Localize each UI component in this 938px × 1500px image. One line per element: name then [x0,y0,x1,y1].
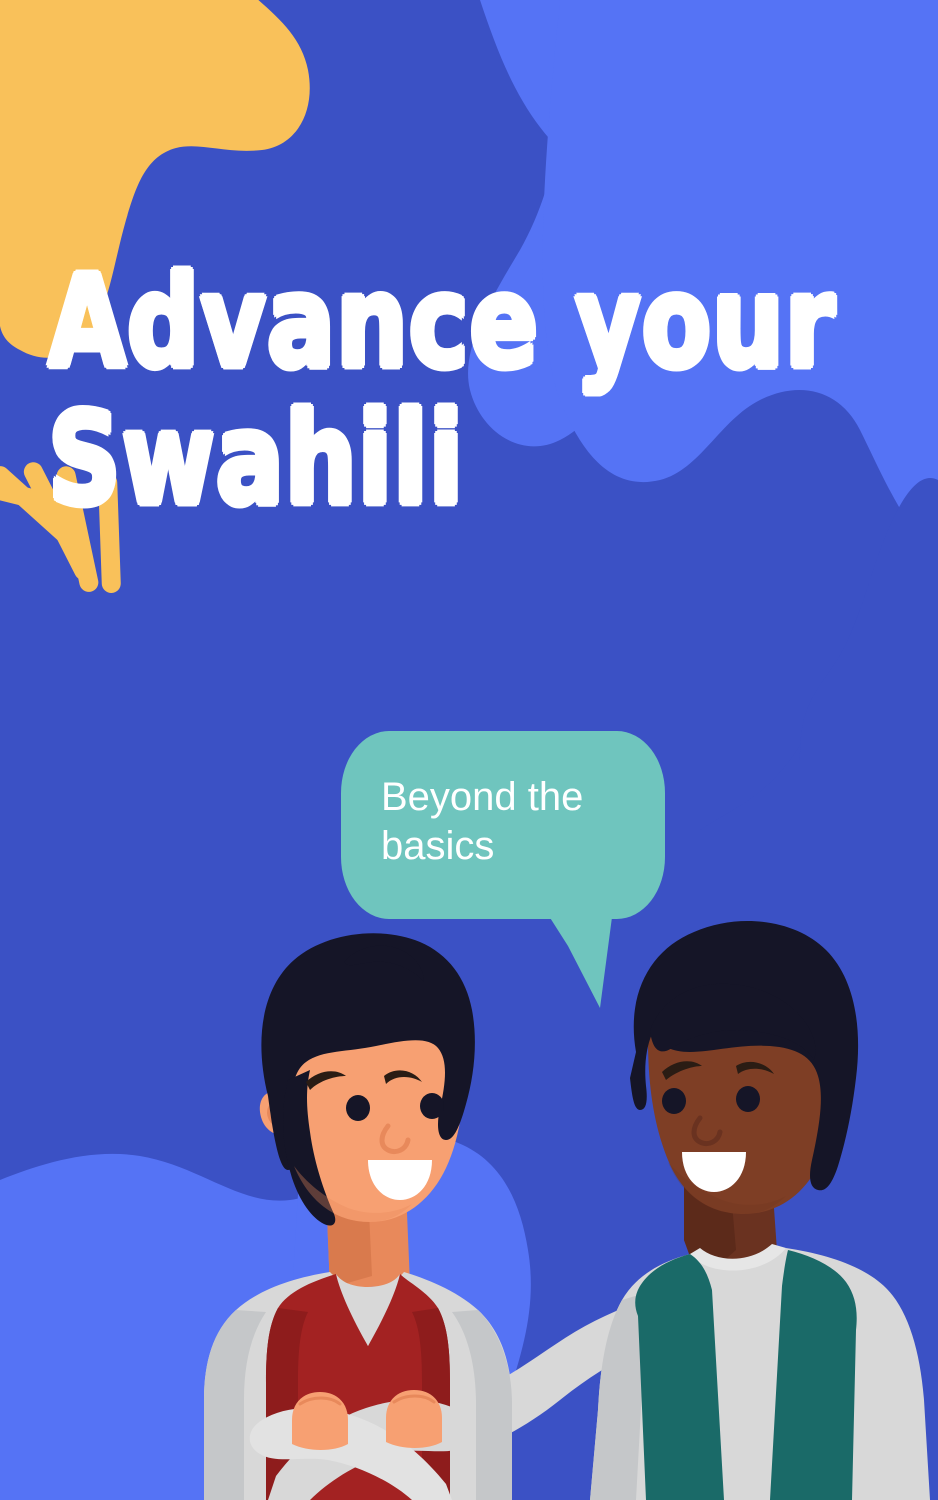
characters-illustration [0,0,938,1500]
left-person-fist-right [386,1390,442,1448]
right-person-vest-left [635,1254,724,1500]
left-person-eye-right [420,1093,444,1119]
left-person-eye-left [346,1095,370,1121]
right-person-eye-right [736,1086,760,1112]
right-person-vest-right [770,1250,857,1500]
left-person-fist-left [292,1392,348,1450]
right-person-eye-left [662,1088,686,1114]
book-cover-poster: Advance your Swahili Beyond the basics [0,0,938,1500]
left-person [204,933,512,1500]
